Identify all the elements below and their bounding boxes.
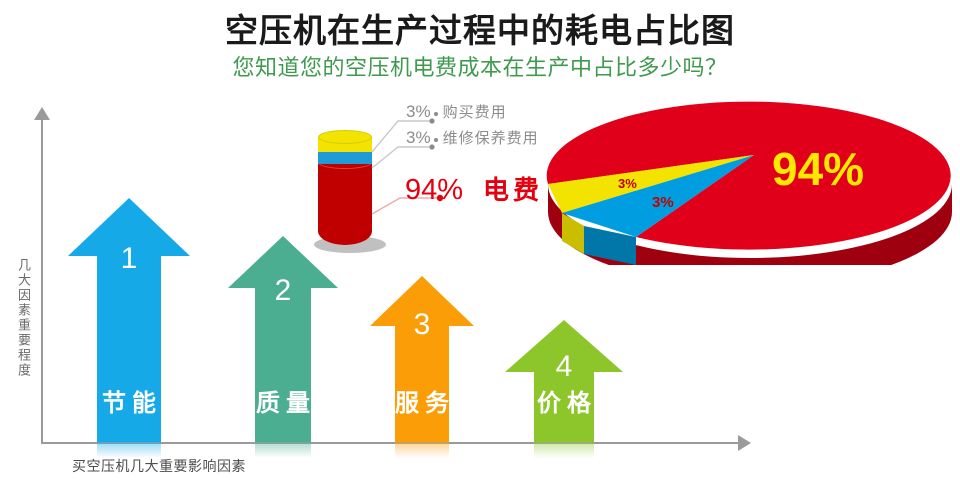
factor-rank-1: 1 [68, 242, 190, 276]
callout-power-label: 电费 [483, 175, 543, 205]
page-title: 空压机在生产过程中的耗电占比图 [0, 4, 960, 52]
arrow-reflection-4 [534, 442, 594, 458]
page-subtitle: 您知道您的空压机电费成本在生产中占比多少吗？ [0, 50, 960, 82]
cylinder-segment-purchase-cap [318, 130, 372, 144]
pie-label-maintenance: 3% [652, 194, 674, 211]
pie-label-purchase: 3% [618, 176, 637, 191]
pie-side-purchase [562, 213, 584, 254]
factor-rank-2: 2 [228, 274, 338, 308]
factor-arrow-3[interactable]: 3 服务 [370, 276, 474, 442]
callout-power: 94%电费 [405, 170, 543, 207]
y-axis-line [41, 118, 43, 443]
stacked-cylinder-chart [300, 110, 400, 260]
pie-chart-svg: 3% 3% 94% [540, 100, 960, 265]
factor-label-4: 价格 [505, 383, 623, 418]
pie-label-power: 94% [772, 143, 864, 195]
callout-maintenance-label: 维修保养费用 [443, 130, 539, 147]
x-axis-arrowhead-icon [738, 435, 751, 451]
cylinder-segment-power [318, 162, 372, 245]
callout-purchase-percent: 3% [406, 102, 431, 121]
arrow-reflection-2 [255, 442, 311, 458]
callout-purchase-label: 购买费用 [443, 104, 507, 121]
arrow-reflection-1 [97, 442, 161, 458]
factor-rank-4: 4 [505, 350, 623, 384]
x-axis-label: 买空压机几大重要影响因素 [72, 456, 246, 476]
factor-rank-3: 3 [370, 308, 474, 342]
callout-maintenance-percent: 3% [406, 128, 431, 147]
factor-arrow-4[interactable]: 4 价格 [505, 320, 623, 442]
factor-arrow-1[interactable]: 1 节能 [68, 198, 190, 442]
factor-label-2: 质量 [228, 383, 338, 418]
y-axis-arrowhead-icon [34, 107, 50, 120]
callout-dot-icon [434, 138, 438, 142]
infographic-canvas: 空压机在生产过程中的耗电占比图 您知道您的空压机电费成本在生产中占比多少吗？ 几… [0, 0, 960, 483]
pie-chart-3d: 3% 3% 94% [540, 100, 960, 265]
factor-arrow-2[interactable]: 2 质量 [228, 236, 338, 442]
callout-power-percent: 94% [405, 174, 463, 206]
factor-label-1: 节能 [68, 383, 190, 418]
arrow-reflection-3 [395, 442, 449, 458]
callout-dot-icon [434, 112, 438, 116]
factor-label-3: 服务 [370, 383, 474, 418]
callout-purchase: 3%购买费用 [406, 101, 507, 122]
callout-maintenance: 3%维修保养费用 [406, 127, 539, 148]
y-axis-label: 几大因素重要程度 [10, 258, 32, 378]
